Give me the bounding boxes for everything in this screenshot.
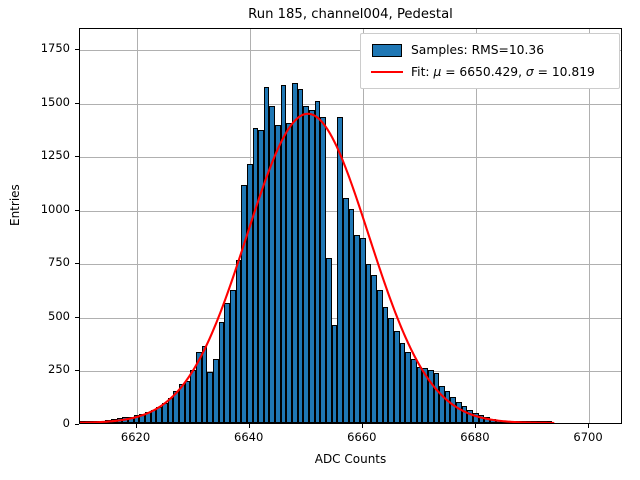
legend-label-samples: Samples: RMS=10.36 [406,43,544,57]
y-tick-label: 500 [8,309,70,323]
legend-item-fit[interactable]: Fit: μ = 6650.429, σ = 10.819 [368,61,611,83]
legend-patch-icon [368,44,406,57]
x-tick-mark [362,424,363,428]
x-tick-mark [475,424,476,428]
x-tick-label: 6680 [435,430,515,444]
y-tick-mark [75,317,79,318]
legend-label-fit: Fit: μ = 6650.429, σ = 10.819 [406,65,595,79]
y-tick-mark [75,49,79,50]
x-tick-label: 6640 [209,430,289,444]
y-tick-label: 1250 [8,148,70,162]
legend-line-icon [368,71,406,73]
histogram-figure: Run 185, channel004, Pedestal Entries AD… [0,0,640,480]
y-tick-mark [75,210,79,211]
y-tick-label: 1750 [8,41,70,55]
x-tick-label: 6660 [322,430,402,444]
y-tick-label: 1000 [8,202,70,216]
legend-item-samples[interactable]: Samples: RMS=10.36 [368,39,611,61]
y-tick-label: 750 [8,255,70,269]
x-axis-label: ADC Counts [79,452,622,466]
y-tick-label: 1500 [8,95,70,109]
y-tick-mark [75,156,79,157]
y-tick-label: 0 [8,416,70,430]
fit-curve-path [80,114,553,423]
y-tick-mark [75,424,79,425]
x-tick-label: 6700 [548,430,628,444]
y-tick-mark [75,370,79,371]
y-tick-label: 250 [8,362,70,376]
x-tick-label: 6620 [96,430,176,444]
page-title: Run 185, channel004, Pedestal [79,7,622,22]
y-tick-mark [75,263,79,264]
x-tick-mark [136,424,137,428]
x-tick-mark [588,424,589,428]
y-tick-mark [75,103,79,104]
legend[interactable]: Samples: RMS=10.36 Fit: μ = 6650.429, σ … [360,33,620,89]
x-tick-mark [249,424,250,428]
